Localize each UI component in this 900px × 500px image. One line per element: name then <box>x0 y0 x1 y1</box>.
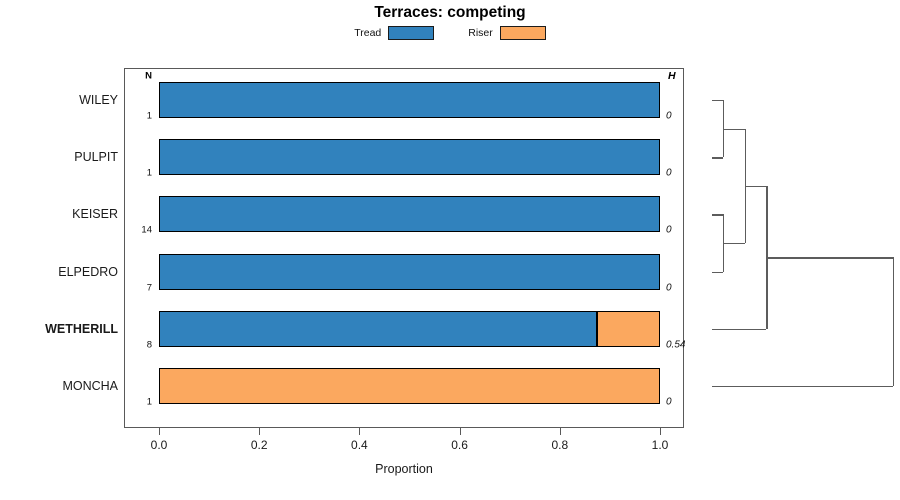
dendrogram-branch <box>766 257 893 258</box>
chart-canvas: Terraces: competing Tread Riser WILEYPUL… <box>0 0 900 500</box>
x-axis-title: Proportion <box>124 462 684 476</box>
row-n-value: 1 <box>126 168 152 179</box>
dendrogram-branch <box>723 129 745 130</box>
x-axis-tick <box>460 428 461 435</box>
dendrogram-branch <box>712 157 723 158</box>
x-axis-tick <box>259 428 260 435</box>
row-n-value: 1 <box>126 111 152 122</box>
dendrogram-branch <box>723 243 745 244</box>
dendrogram-connector <box>893 257 894 386</box>
dendrogram-branch <box>712 386 893 387</box>
x-axis-tick <box>159 428 160 435</box>
row-n-value: 1 <box>126 397 152 408</box>
x-axis-tick <box>660 428 661 435</box>
row-n-value: 14 <box>126 225 152 236</box>
x-axis-tick-label: 0.0 <box>151 438 168 452</box>
x-axis-tick <box>560 428 561 435</box>
x-axis-tick-label: 0.4 <box>351 438 368 452</box>
dendrogram-branch <box>712 272 723 273</box>
column-header-n: N <box>126 71 152 82</box>
row-n-value: 7 <box>126 282 152 293</box>
x-axis: 0.00.20.40.60.81.0 <box>124 428 684 429</box>
dendrogram-branch <box>745 186 767 187</box>
dendrogram-branch <box>712 100 723 101</box>
x-axis-tick-label: 0.8 <box>551 438 568 452</box>
dendrogram-branch <box>712 329 766 330</box>
row-n-value: 8 <box>126 339 152 350</box>
x-axis-tick <box>359 428 360 435</box>
dendrogram-branch <box>712 214 723 215</box>
x-axis-tick-label: 1.0 <box>652 438 669 452</box>
x-axis-tick-label: 0.2 <box>251 438 268 452</box>
x-axis-tick-label: 0.6 <box>451 438 468 452</box>
dendrogram <box>684 0 900 500</box>
